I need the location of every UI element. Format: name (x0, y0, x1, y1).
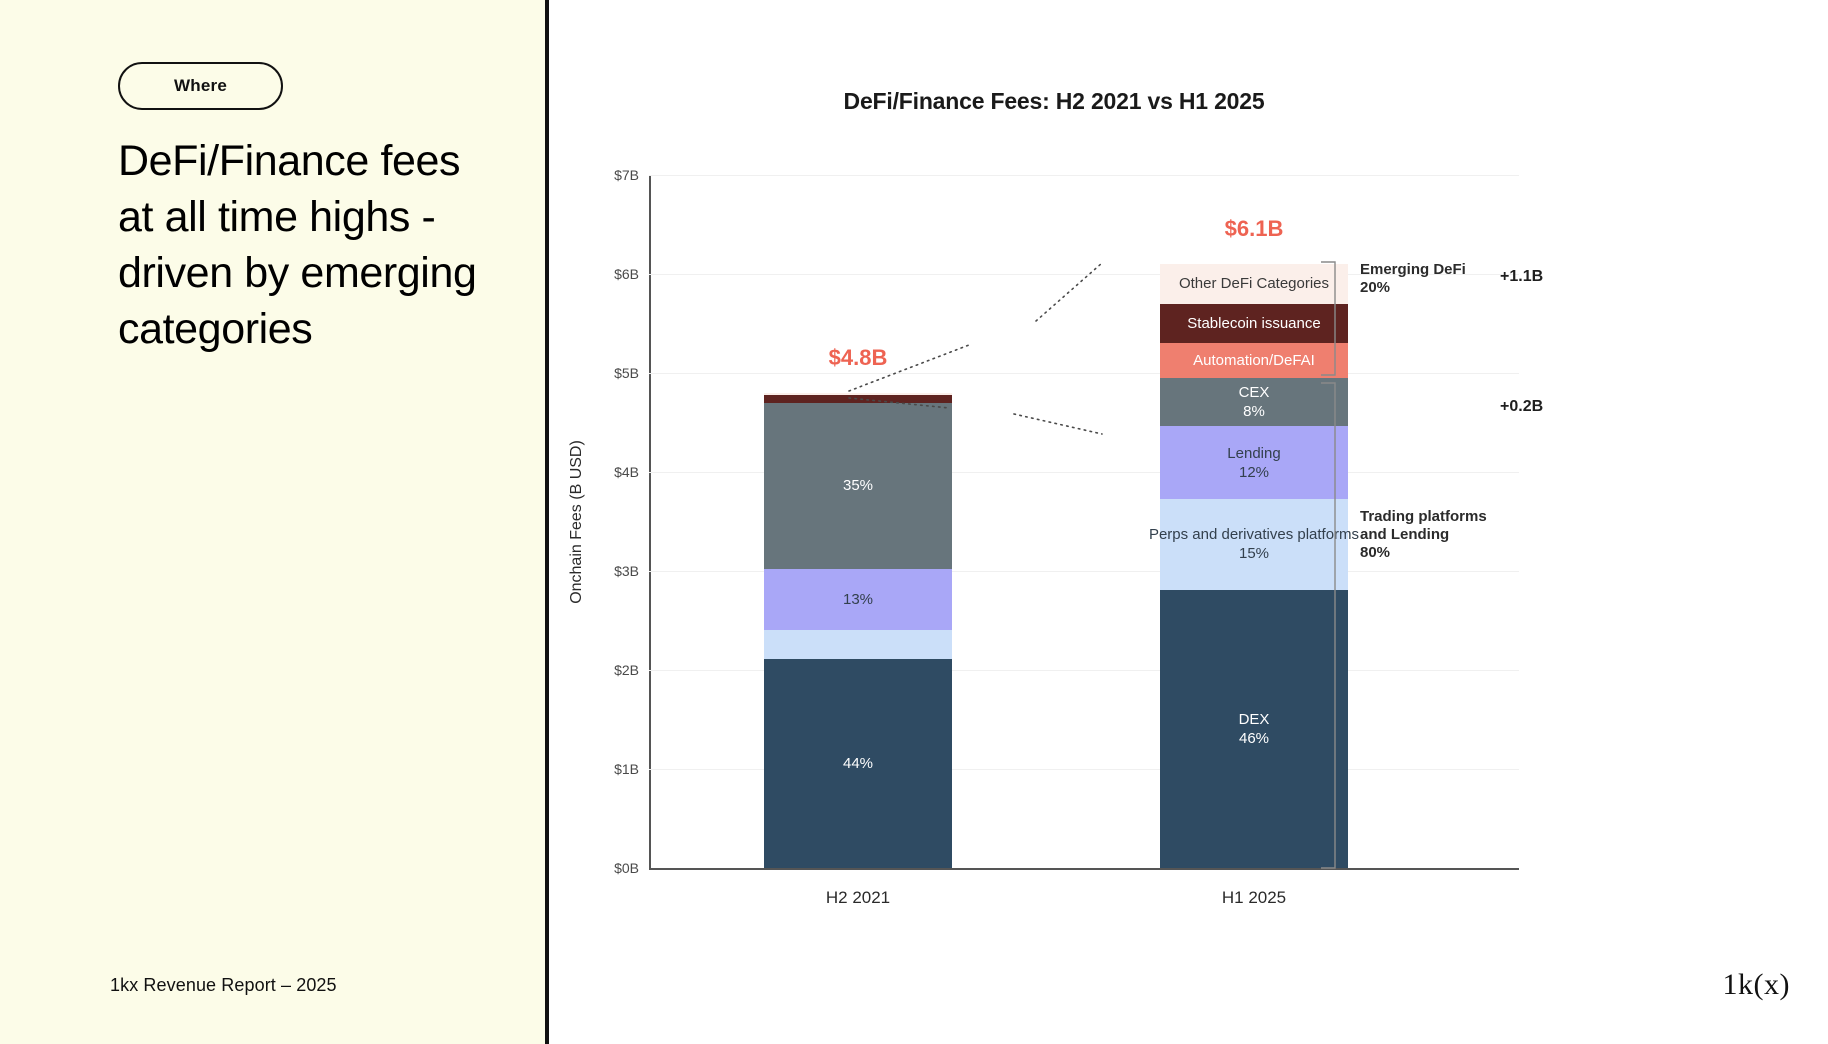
y-axis-tick-label: $6B (614, 266, 639, 282)
bracket-label-emerging-defi: Emerging DeFi 20% (1360, 261, 1466, 297)
bar-segment-perps-and-derivatives-platforms[interactable] (764, 630, 952, 659)
segment-percent-label: 15% (1239, 544, 1269, 563)
section-badge: Where (118, 62, 283, 110)
bar-segment-other-defi-categories[interactable]: Other DeFi Categories (1160, 264, 1348, 304)
segment-name-label: Automation/DeFAI (1193, 351, 1315, 370)
bar-segment-lending[interactable]: 13% (764, 569, 952, 630)
bar-segment-other-defi-categories[interactable] (764, 393, 952, 395)
bar-segment-lending[interactable]: Lending12% (1160, 426, 1348, 498)
bracket-emerging-defi-value: 20% (1360, 279, 1466, 297)
x-axis-line (649, 868, 1519, 870)
x-axis-tick-label: H2 2021 (826, 888, 890, 908)
bar-segment-automation-defai[interactable]: Automation/DeFAI (1160, 343, 1348, 378)
bracket-emerging-defi-name: Emerging DeFi (1360, 261, 1466, 279)
y-axis-line (649, 175, 651, 868)
y-axis-label: Onchain Fees (B USD) (568, 440, 586, 604)
bar-total-label: $6.1B (1225, 216, 1284, 242)
bar-segment-dex[interactable]: DEX46% (1160, 590, 1348, 868)
delta-label-bottom: +0.2B (1500, 398, 1543, 416)
segment-name-label: Perps and derivatives platforms (1149, 525, 1359, 544)
segment-percent-label: 8% (1243, 402, 1265, 421)
left-title-panel: Where DeFi/Finance fees at all time high… (0, 0, 549, 1044)
segment-percent-label: 44% (843, 754, 873, 773)
bracket-trading-lending-name-2: and Lending (1360, 526, 1487, 544)
segment-percent-label: 35% (843, 476, 873, 495)
bracket-trading-lending-name-1: Trading platforms (1360, 508, 1487, 526)
chart-title: DeFi/Finance Fees: H2 2021 vs H1 2025 (549, 88, 1559, 115)
chart-panel: DeFi/Finance Fees: H2 2021 vs H1 2025 On… (549, 0, 1828, 1044)
y-axis-tick-label: $7B (614, 167, 639, 183)
bracket-trading-lending-value: 80% (1360, 544, 1487, 562)
bar-total-label: $4.8B (829, 345, 888, 371)
x-axis-tick-label: H1 2025 (1222, 888, 1286, 908)
delta-label-top: +1.1B (1500, 268, 1543, 286)
y-axis-tick-label: $2B (614, 662, 639, 678)
report-footer: 1kx Revenue Report – 2025 (110, 975, 337, 996)
bar-segment-stablecoin-issuance[interactable]: Stablecoin issuance (1160, 304, 1348, 344)
brand-logo: 1k(x) (1723, 968, 1790, 1002)
segment-name-label: Lending (1227, 444, 1280, 463)
page-title: DeFi/Finance fees at all time highs - dr… (118, 133, 498, 357)
y-axis-tick-label: $3B (614, 563, 639, 579)
bar-segment-stablecoin-issuance[interactable] (764, 395, 952, 403)
bar-segment-perps-and-derivatives-platforms[interactable]: Perps and derivatives platforms15% (1160, 499, 1348, 590)
y-axis-tick-label: $0B (614, 860, 639, 876)
segment-percent-label: 46% (1239, 729, 1269, 748)
y-axis-tick-label: $1B (614, 761, 639, 777)
segment-name-label: DEX (1239, 710, 1270, 729)
bar-segment-cex[interactable]: CEX8% (1160, 378, 1348, 427)
section-badge-label: Where (174, 76, 227, 96)
bar-segment-dex[interactable]: 44% (764, 659, 952, 868)
bracket-label-trading-lending: Trading platforms and Lending 80% (1360, 508, 1487, 562)
segment-percent-label: 12% (1239, 463, 1269, 482)
bar-segment-cex[interactable]: 35% (764, 403, 952, 569)
segment-name-label: Stablecoin issuance (1187, 314, 1320, 333)
segment-percent-label: 13% (843, 590, 873, 609)
bar-h1-2025[interactable]: DEX46%Perps and derivatives platforms15%… (1160, 175, 1348, 868)
y-axis-tick-label: $4B (614, 464, 639, 480)
bar-h2-2021[interactable]: 44%13%35% (764, 175, 952, 868)
segment-name-label: Other DeFi Categories (1179, 274, 1329, 293)
y-axis-tick-label: $5B (614, 365, 639, 381)
segment-name-label: CEX (1239, 383, 1270, 402)
